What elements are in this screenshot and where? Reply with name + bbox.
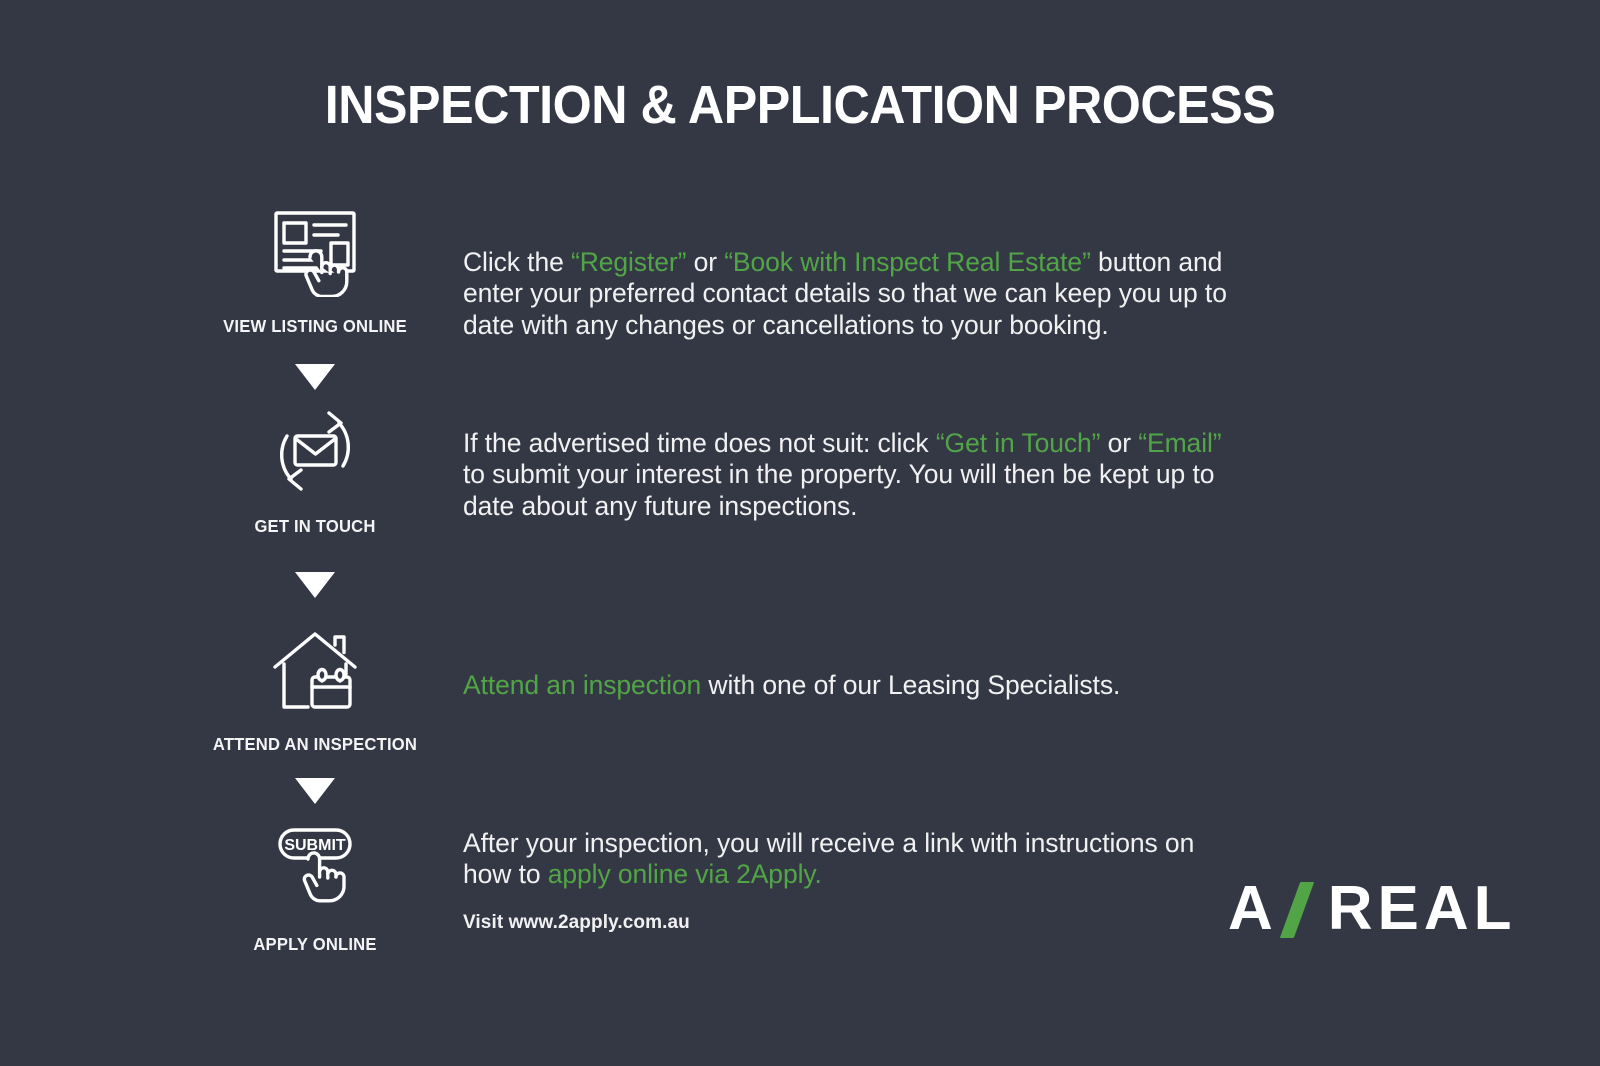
down-triangle-icon — [180, 572, 450, 598]
highlight-text: “Email” — [1138, 428, 1221, 458]
paragraph-get-in-touch: If the advertised time does not suit: cl… — [463, 428, 1233, 522]
highlight-text: “Book with Inspect Real Estate” — [724, 247, 1091, 277]
listing-page-click-icon — [180, 200, 450, 302]
step-get-in-touch: GET IN TOUCH — [180, 400, 450, 537]
logo-letter-a: A — [1228, 878, 1274, 940]
body-text: If the advertised time does not suit: cl… — [463, 428, 936, 458]
body-text: Click the — [463, 247, 571, 277]
body-text: with one of our Leasing Specialists. — [701, 670, 1120, 700]
step-apply-online: SUBMIT APPLY ONLINE — [180, 818, 450, 955]
brand-logo: A REAL — [1228, 876, 1517, 942]
paragraph-apply-online: After your inspection, you will receive … — [463, 828, 1233, 891]
paragraph-attend-inspection: Attend an inspection with one of our Lea… — [463, 670, 1233, 701]
paragraph-view-listing: Click the “Register” or “Book with Inspe… — [463, 247, 1233, 341]
highlight-text: “Get in Touch” — [936, 428, 1101, 458]
house-calendar-icon — [180, 618, 450, 720]
infographic-canvas: INSPECTION & APPLICATION PROCESS — [0, 0, 1600, 1066]
body-text: to submit your interest in the property.… — [463, 459, 1214, 520]
step-label: ATTEND AN INSPECTION — [187, 734, 444, 755]
highlight-text: Attend an inspection — [463, 670, 701, 700]
step-label: APPLY ONLINE — [187, 934, 444, 955]
visit-url-text: Visit www.2apply.com.au — [463, 912, 690, 934]
down-triangle-icon — [180, 778, 450, 804]
step-label: GET IN TOUCH — [187, 516, 444, 537]
step-view-listing-online: VIEW LISTING ONLINE — [180, 200, 450, 337]
step-label: VIEW LISTING ONLINE — [187, 316, 444, 337]
step-attend-an-inspection: ATTEND AN INSPECTION — [180, 618, 450, 755]
logo-slash-icon — [1276, 880, 1320, 938]
highlight-text: apply online via 2Apply. — [548, 859, 822, 889]
highlight-text: “Register” — [571, 247, 686, 277]
logo-wordmark: REAL — [1328, 878, 1517, 940]
body-text: or — [1100, 428, 1138, 458]
down-triangle-icon — [180, 364, 450, 390]
submit-button-click-icon: SUBMIT — [180, 818, 450, 920]
body-text: or — [686, 247, 724, 277]
envelope-refresh-icon — [180, 400, 450, 502]
page-title: INSPECTION & APPLICATION PROCESS — [56, 74, 1544, 136]
